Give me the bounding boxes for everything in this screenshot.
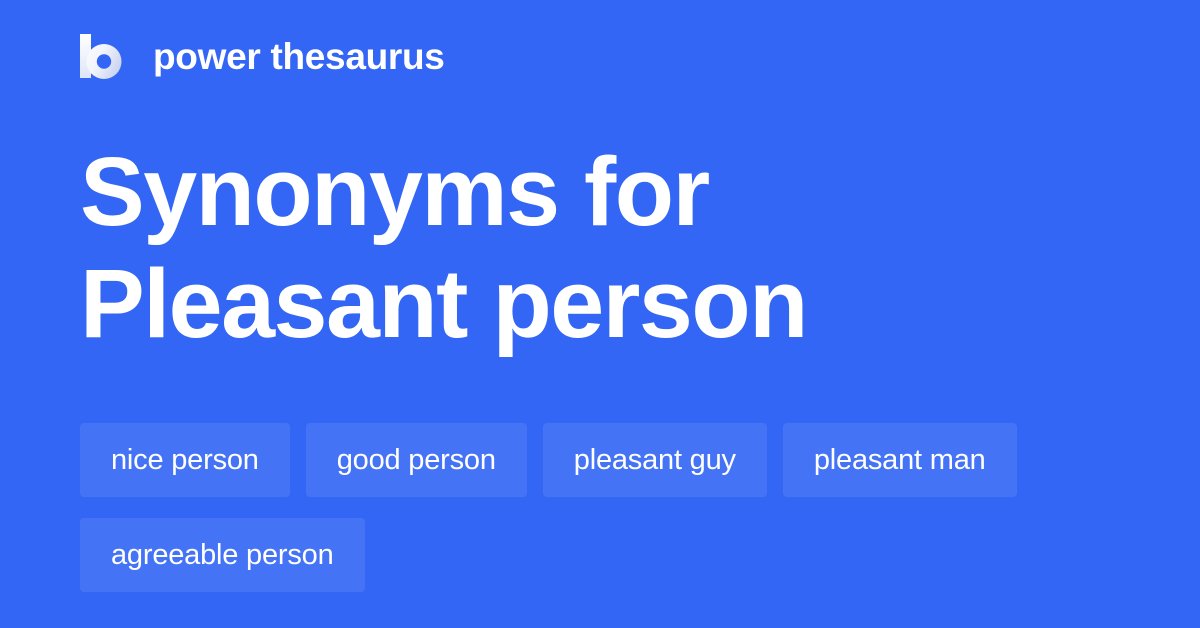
- page-title: Synonyms for Pleasant person: [80, 136, 1010, 360]
- synonym-chip[interactable]: pleasant guy: [543, 423, 767, 497]
- brand-name: power thesaurus: [153, 38, 445, 75]
- synonym-chip[interactable]: good person: [306, 423, 527, 497]
- synonym-chip[interactable]: pleasant man: [783, 423, 1017, 497]
- synonym-chip[interactable]: nice person: [80, 423, 290, 497]
- power-thesaurus-b-logo-icon: [80, 33, 126, 79]
- synonym-chip-list: nice person good person pleasant guy ple…: [80, 423, 1140, 592]
- brand-logo[interactable]: power thesaurus: [80, 28, 445, 84]
- synonym-chip[interactable]: agreeable person: [80, 518, 365, 592]
- thesaurus-share-card: power thesaurus Synonyms for Pleasant pe…: [0, 0, 1200, 628]
